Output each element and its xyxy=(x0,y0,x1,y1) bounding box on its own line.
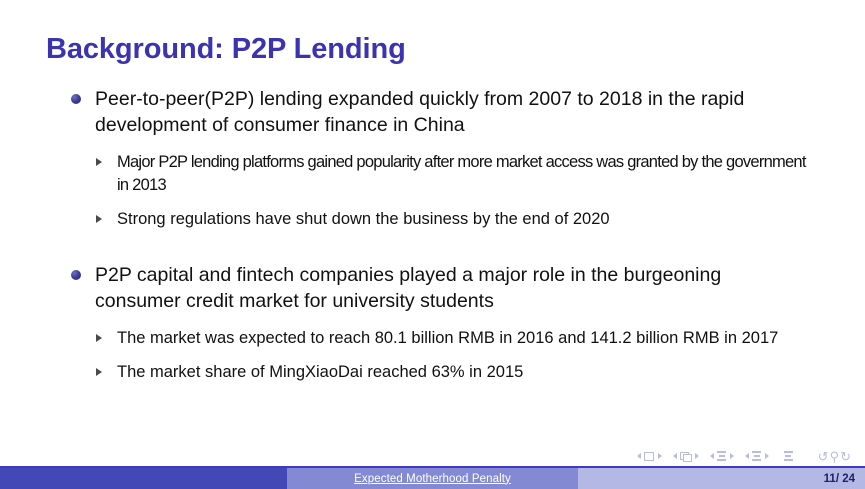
bullet-dot-icon xyxy=(71,270,81,280)
sub-bullet-text: Strong regulations have shut down the bu… xyxy=(117,208,809,231)
nav-group-document[interactable] xyxy=(784,451,793,461)
bullet-item-level1: P2P capital and fintech companies played… xyxy=(0,262,865,314)
bullet-text: Peer-to-peer(P2P) lending expanded quick… xyxy=(95,86,807,138)
bullet-item-level2: The market was expected to reach 80.1 bi… xyxy=(0,327,865,350)
nav-group-slide[interactable] xyxy=(637,452,662,461)
slide: Background: P2P Lending Peer-to-peer(P2P… xyxy=(0,0,865,489)
document-icon[interactable] xyxy=(784,451,793,461)
triangle-bullet-icon xyxy=(96,334,102,342)
forward-icon[interactable]: ↻ xyxy=(840,450,851,463)
footer-author-segment xyxy=(0,468,287,489)
footer-title-link[interactable]: Expected Motherhood Penalty xyxy=(354,473,511,485)
next-slide-arrow[interactable] xyxy=(658,453,662,459)
bullet-item-level2: Strong regulations have shut down the bu… xyxy=(0,208,865,231)
slide-body: Peer-to-peer(P2P) lending expanded quick… xyxy=(0,86,865,384)
next-section-arrow[interactable] xyxy=(765,453,769,459)
nav-group-frame[interactable] xyxy=(673,452,699,461)
sub-bullet-list: Major P2P lending platforms gained popul… xyxy=(0,151,865,231)
page-title: Background: P2P Lending xyxy=(46,31,406,67)
triangle-bullet-icon xyxy=(96,158,102,166)
bullet-item-level1: Peer-to-peer(P2P) lending expanded quick… xyxy=(0,86,865,138)
footer-title-segment: Expected Motherhood Penalty xyxy=(287,468,578,489)
sub-bullet-text: The market was expected to reach 80.1 bi… xyxy=(117,327,809,350)
next-subsection-arrow[interactable] xyxy=(730,453,734,459)
bullet-block: P2P capital and fintech companies played… xyxy=(0,262,865,384)
sub-bullet-list: The market was expected to reach 80.1 bi… xyxy=(0,327,865,384)
search-icon[interactable]: ⚲ xyxy=(830,450,840,463)
previous-slide-arrow[interactable] xyxy=(637,453,641,459)
frame-icon[interactable] xyxy=(680,452,691,461)
previous-subsection-arrow[interactable] xyxy=(710,453,714,459)
subsection-icon[interactable] xyxy=(717,451,726,461)
sub-bullet-text: The market share of MingXiaoDai reached … xyxy=(117,361,809,384)
footer-page-segment: 11/ 24 xyxy=(578,468,865,489)
section-icon[interactable] xyxy=(752,451,761,461)
bullet-text: P2P capital and fintech companies played… xyxy=(95,262,807,314)
next-frame-arrow[interactable] xyxy=(695,453,699,459)
page-number: 11/ 24 xyxy=(824,473,855,485)
footer-bar: Expected Motherhood Penalty 11/ 24 xyxy=(0,468,865,489)
beamer-navigation-symbols[interactable]: ↺ ⚲ ↻ xyxy=(637,449,851,463)
nav-group-subsection[interactable] xyxy=(710,451,734,461)
bullet-block: Peer-to-peer(P2P) lending expanded quick… xyxy=(0,86,865,231)
previous-frame-arrow[interactable] xyxy=(673,453,677,459)
bullet-item-level2: Major P2P lending platforms gained popul… xyxy=(0,151,865,196)
bullet-item-level2: The market share of MingXiaoDai reached … xyxy=(0,361,865,384)
nav-group-section[interactable] xyxy=(745,451,769,461)
previous-section-arrow[interactable] xyxy=(745,453,749,459)
slide-icon[interactable] xyxy=(644,452,654,461)
triangle-bullet-icon xyxy=(96,215,102,223)
back-icon[interactable]: ↺ xyxy=(818,450,829,463)
sub-bullet-text: Major P2P lending platforms gained popul… xyxy=(117,151,809,196)
bullet-dot-icon xyxy=(71,94,81,104)
nav-group-history[interactable]: ↺ ⚲ ↻ xyxy=(818,450,851,463)
triangle-bullet-icon xyxy=(96,368,102,376)
